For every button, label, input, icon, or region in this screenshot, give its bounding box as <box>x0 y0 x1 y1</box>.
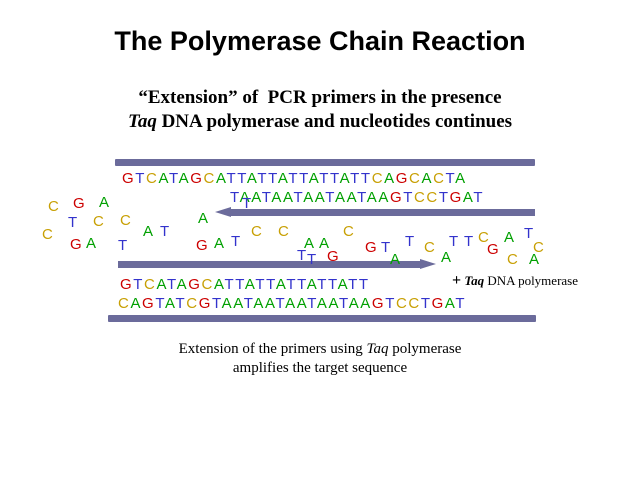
base-C: C <box>409 170 421 187</box>
free-nucleotide-C: C <box>42 227 53 242</box>
base-A: A <box>285 295 297 312</box>
base-T: T <box>169 170 179 187</box>
base-T: T <box>385 295 396 312</box>
free-nucleotide-A: A <box>86 236 96 251</box>
base-A: A <box>247 170 258 187</box>
base-T: T <box>175 295 186 312</box>
base-G: G <box>120 276 133 293</box>
base-A: A <box>253 295 265 312</box>
base-T: T <box>421 295 432 312</box>
base-T: T <box>361 170 372 187</box>
arrow-head-right-icon <box>420 259 436 269</box>
base-T: T <box>403 189 414 206</box>
free-nucleotide-T: T <box>118 238 127 253</box>
base-A: A <box>156 276 167 293</box>
free-nucleotide-T: T <box>231 234 240 249</box>
base-C: C <box>408 295 420 312</box>
free-nucleotide-T: T <box>464 234 473 249</box>
free-nucleotide-C: C <box>48 199 59 214</box>
free-nucleotide-G: G <box>70 237 82 252</box>
base-T: T <box>330 170 340 187</box>
base-T: T <box>297 276 307 293</box>
base-T: T <box>212 295 222 312</box>
base-C: C <box>202 276 214 293</box>
base-T: T <box>226 170 237 187</box>
taq-polymerase-label: + Taq DNA polymerase <box>452 272 578 290</box>
base-A: A <box>307 276 318 293</box>
free-nucleotide-T: T <box>68 215 77 230</box>
free-nucleotide-T: T <box>307 252 316 267</box>
base-T: T <box>262 189 272 206</box>
top-extension-arrow <box>215 207 535 218</box>
base-A: A <box>177 276 189 293</box>
free-nucleotide-C: C <box>93 214 104 229</box>
base-G: G <box>396 170 409 187</box>
free-nucleotide-T: T <box>242 196 251 211</box>
base-T: T <box>155 295 165 312</box>
base-T: T <box>446 170 456 187</box>
base-T: T <box>307 295 317 312</box>
base-T: T <box>357 189 367 206</box>
top-duplex-bar <box>115 159 535 166</box>
base-T: T <box>167 276 177 293</box>
base-A: A <box>271 189 283 206</box>
free-nucleotide-C: C <box>120 213 131 228</box>
base-A: A <box>265 295 276 312</box>
base-T: T <box>224 276 235 293</box>
base-T: T <box>288 170 299 187</box>
slide-canvas: The Polymerase Chain Reaction “Extension… <box>0 0 640 480</box>
base-A: A <box>315 189 326 206</box>
free-nucleotide-A: A <box>143 224 153 239</box>
base-A: A <box>338 276 349 293</box>
base-T: T <box>133 276 144 293</box>
base-G: G <box>390 189 403 206</box>
base-A: A <box>349 295 361 312</box>
free-nucleotide-C: C <box>251 224 262 239</box>
base-G: G <box>450 189 463 206</box>
base-A: A <box>463 189 474 206</box>
base-T: T <box>294 189 304 206</box>
base-A: A <box>130 295 142 312</box>
free-nucleotide-G: G <box>73 196 85 211</box>
free-nucleotide-T: T <box>449 234 458 249</box>
free-nucleotide-C: C <box>424 240 435 255</box>
base-T: T <box>455 295 466 312</box>
base-C: C <box>396 295 408 312</box>
free-nucleotide-T: T <box>160 224 169 239</box>
free-nucleotide-C: C <box>507 252 518 267</box>
base-T: T <box>237 170 247 187</box>
base-A: A <box>455 170 467 187</box>
free-nucleotide-T: T <box>524 226 533 241</box>
plus-sign-icon: + <box>452 272 461 289</box>
slide-caption: Extension of the primers using Taq polym… <box>0 340 640 378</box>
base-T: T <box>325 189 335 206</box>
caption-line-1: Extension of the primers using Taq polym… <box>0 340 640 359</box>
base-T: T <box>359 276 370 293</box>
base-G: G <box>142 295 155 312</box>
caption-line-1-pre: Extension of the primers using <box>179 341 367 357</box>
base-A: A <box>216 170 227 187</box>
free-nucleotide-A: A <box>214 236 224 251</box>
base-C: C <box>433 170 445 187</box>
bottom-template-strand: GTCATAGCATTATTATTATTATT <box>120 276 370 293</box>
dna-diagram: GTCATAGCATTATTATTATTATTCAGCACTA TAATAATA… <box>0 0 640 480</box>
base-A: A <box>421 170 433 187</box>
base-C: C <box>118 295 130 312</box>
top-primer-strand: TAATAATAATAATAAGTCCTGAT <box>230 189 484 206</box>
base-A: A <box>251 189 262 206</box>
base-T: T <box>339 295 349 312</box>
base-T: T <box>135 170 146 187</box>
base-G: G <box>122 170 135 187</box>
base-A: A <box>384 170 396 187</box>
base-A: A <box>233 295 244 312</box>
base-A: A <box>179 170 191 187</box>
base-A: A <box>317 295 329 312</box>
base-T: T <box>348 276 359 293</box>
base-A: A <box>445 295 456 312</box>
free-nucleotide-A: A <box>504 230 514 245</box>
base-T: T <box>317 276 328 293</box>
base-T: T <box>230 189 240 206</box>
bottom-extension-arrow <box>118 259 436 270</box>
free-nucleotide-A: A <box>390 252 400 267</box>
base-A: A <box>276 276 287 293</box>
free-nucleotide-G: G <box>196 238 208 253</box>
base-C: C <box>146 170 158 187</box>
free-nucleotide-G: G <box>487 242 499 257</box>
base-T: T <box>439 189 450 206</box>
arrow-shaft <box>118 261 422 268</box>
taq-italic: Taq <box>464 273 484 288</box>
caption-taq-italic: Taq <box>367 341 389 357</box>
base-T: T <box>328 276 338 293</box>
base-T: T <box>257 170 268 187</box>
caption-line-1-post: polymerase <box>388 341 461 357</box>
base-A: A <box>335 189 347 206</box>
base-A: A <box>309 170 320 187</box>
base-T: T <box>268 170 278 187</box>
base-A: A <box>378 189 390 206</box>
base-T: T <box>299 170 309 187</box>
base-A: A <box>340 170 351 187</box>
top-template-strand: GTCATAGCATTATTATTATTATTCAGCACTA <box>122 170 467 187</box>
base-A: A <box>158 170 169 187</box>
base-A: A <box>329 295 340 312</box>
base-A: A <box>283 189 294 206</box>
base-A: A <box>360 295 372 312</box>
free-nucleotide-T: T <box>297 248 306 263</box>
base-C: C <box>426 189 438 206</box>
base-T: T <box>235 276 245 293</box>
free-nucleotide-T: T <box>405 234 414 249</box>
free-nucleotide-G: G <box>365 240 377 255</box>
free-nucleotide-G: G <box>327 249 339 264</box>
base-A: A <box>214 276 225 293</box>
base-T: T <box>319 170 330 187</box>
free-nucleotide-A: A <box>529 252 539 267</box>
base-G: G <box>188 276 201 293</box>
free-nucleotide-C: C <box>278 224 289 239</box>
base-G: G <box>190 170 203 187</box>
arrow-shaft <box>229 209 535 216</box>
base-A: A <box>347 189 358 206</box>
base-G: G <box>199 295 212 312</box>
base-A: A <box>165 295 176 312</box>
base-T: T <box>266 276 276 293</box>
base-A: A <box>245 276 256 293</box>
free-nucleotide-A: A <box>99 195 109 210</box>
base-C: C <box>204 170 216 187</box>
base-C: C <box>414 189 426 206</box>
base-T: T <box>350 170 361 187</box>
free-nucleotide-T: T <box>381 240 390 255</box>
base-A: A <box>297 295 308 312</box>
base-G: G <box>432 295 445 312</box>
base-T: T <box>276 295 286 312</box>
base-A: A <box>278 170 289 187</box>
base-G: G <box>372 295 385 312</box>
free-nucleotide-C: C <box>343 224 354 239</box>
bottom-duplex-bar <box>108 315 536 322</box>
base-C: C <box>144 276 156 293</box>
base-T: T <box>244 295 254 312</box>
caption-line-2: amplifies the target sequence <box>0 359 640 378</box>
base-A: A <box>367 189 379 206</box>
base-A: A <box>303 189 315 206</box>
taq-label-rest: DNA polymerase <box>484 273 578 288</box>
base-C: C <box>372 170 384 187</box>
free-nucleotide-A: A <box>198 211 208 226</box>
bottom-full-strand: CAGTATCGTAATAATAATAATAAGTCCTGAT <box>118 295 466 312</box>
base-T: T <box>255 276 266 293</box>
base-T: T <box>286 276 297 293</box>
base-A: A <box>222 295 234 312</box>
base-C: C <box>186 295 198 312</box>
free-nucleotide-A: A <box>441 250 451 265</box>
base-T: T <box>473 189 484 206</box>
